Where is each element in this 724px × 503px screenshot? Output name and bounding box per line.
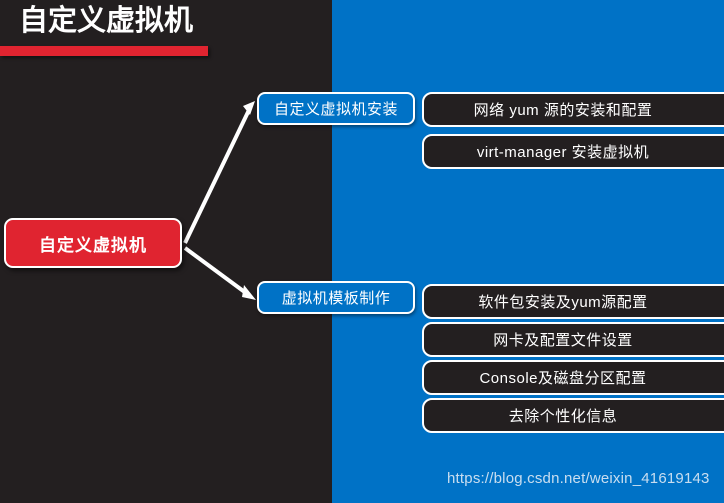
mindmap-leaf-node-1-1[interactable]: 网络 yum 源的安装和配置 [422, 92, 724, 127]
slide-canvas: 自定义虚拟机 自定义虚拟机 自定义虚拟机安装 网络 yum 源的安装和配置 vi… [0, 0, 724, 503]
mindmap-leaf-node-1-2[interactable]: virt-manager 安装虚拟机 [422, 134, 724, 169]
mindmap-branch-node-2[interactable]: 虚拟机模板制作 [257, 281, 415, 314]
mindmap-leaf-label-2-3: Console及磁盘分区配置 [479, 367, 646, 388]
mindmap-branch-node-1[interactable]: 自定义虚拟机安装 [257, 92, 415, 125]
mindmap-leaf-node-2-3[interactable]: Console及磁盘分区配置 [422, 360, 724, 395]
mindmap-leaf-label-2-2: 网卡及配置文件设置 [493, 329, 633, 350]
mindmap-leaf-label-2-4: 去除个性化信息 [509, 405, 618, 426]
mindmap-branch-label-2: 虚拟机模板制作 [282, 287, 391, 308]
mindmap-root-node[interactable]: 自定义虚拟机 [4, 218, 182, 268]
mindmap-branch-label-1: 自定义虚拟机安装 [274, 98, 398, 119]
mindmap-leaf-label-1-2: virt-manager 安装虚拟机 [477, 141, 649, 162]
title-underline-bar [0, 46, 208, 56]
watermark-url: https://blog.csdn.net/weixin_41619143 [447, 470, 710, 487]
mindmap-root-label: 自定义虚拟机 [39, 231, 147, 256]
mindmap-leaf-node-2-1[interactable]: 软件包安装及yum源配置 [422, 284, 724, 319]
page-title: 自定义虚拟机 [19, 2, 193, 40]
mindmap-leaf-label-1-1: 网络 yum 源的安装和配置 [474, 99, 653, 120]
mindmap-leaf-label-2-1: 软件包安装及yum源配置 [478, 291, 647, 312]
mindmap-leaf-node-2-2[interactable]: 网卡及配置文件设置 [422, 322, 724, 357]
mindmap-leaf-node-2-4[interactable]: 去除个性化信息 [422, 398, 724, 433]
